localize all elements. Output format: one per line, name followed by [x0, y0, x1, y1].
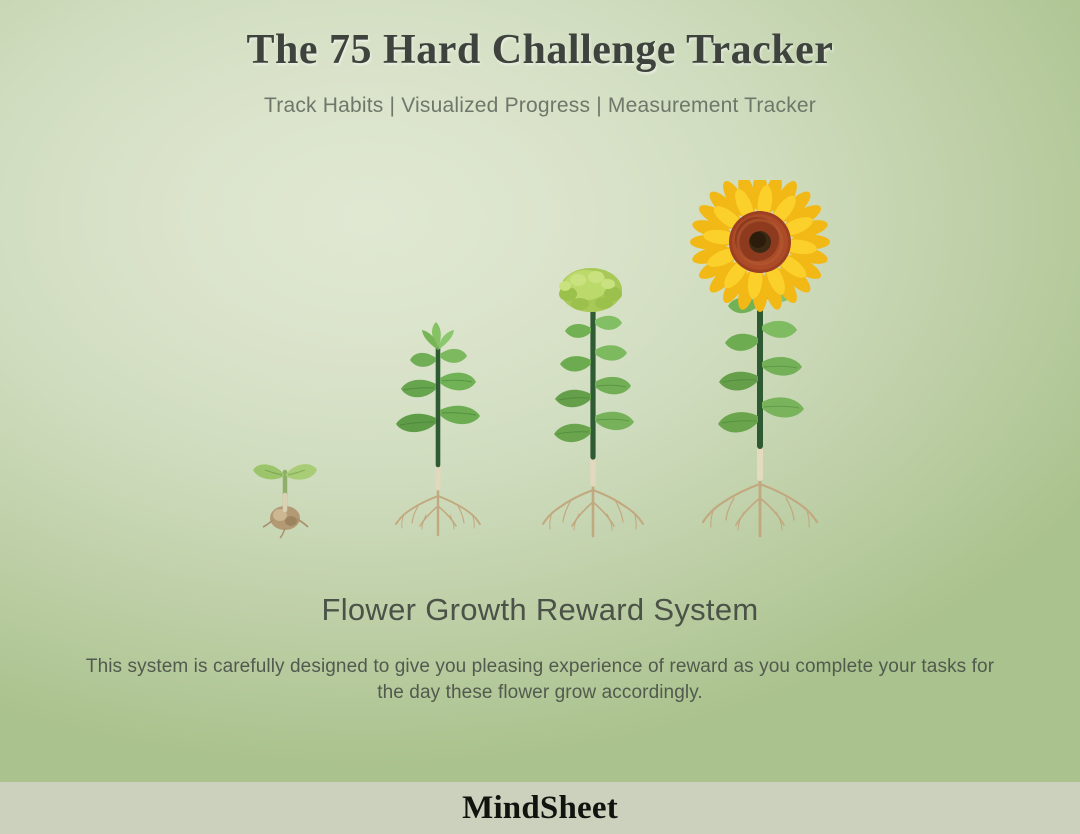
flower-bud — [559, 268, 622, 312]
page-subtitle: Track Habits | Visualized Progress | Mea… — [0, 92, 1080, 119]
growth-stage-seedling — [368, 310, 508, 540]
sunflower-petals — [690, 180, 830, 312]
growth-stage-sunflower-bloom — [678, 180, 848, 540]
growth-stage-sprout — [225, 400, 345, 540]
header: The 75 Hard Challenge Tracker Track Habi… — [0, 0, 1080, 119]
section-heading: Flower Growth Reward System — [0, 592, 1080, 628]
growth-stage-budding-plant — [518, 258, 668, 540]
section-description: This system is carefully designed to giv… — [75, 654, 1005, 706]
sprout-icon — [253, 464, 317, 538]
page-title: The 75 Hard Challenge Tracker — [0, 26, 1080, 76]
growth-stage-illustration — [0, 170, 1080, 540]
poster-canvas: The 75 Hard Challenge Tracker Track Habi… — [0, 0, 1080, 834]
sunflower-icon — [690, 180, 830, 536]
footer-bar: MindSheet — [0, 782, 1080, 834]
brand-logo: MindSheet — [462, 792, 618, 825]
seedling-icon — [396, 322, 480, 535]
budding-plant-icon — [543, 268, 643, 536]
reward-system-caption: Flower Growth Reward System This system … — [0, 592, 1080, 706]
